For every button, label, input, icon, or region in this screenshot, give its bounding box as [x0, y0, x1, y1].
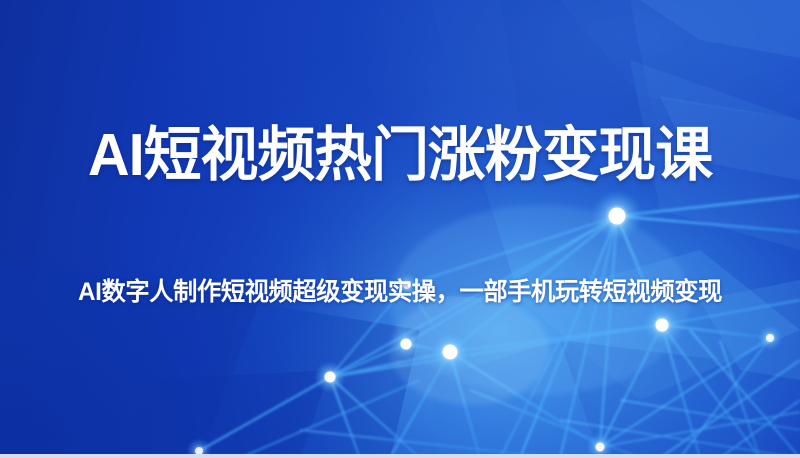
course-promo-banner: AI短视频热门涨粉变现课 AI数字人制作短视频超级变现实操，一部手机玩转短视频变…: [0, 0, 800, 458]
banner-title: AI短视频热门涨粉变现课: [8, 122, 792, 188]
bottom-edge-strip: [0, 454, 800, 458]
text-layer: AI短视频热门涨粉变现课 AI数字人制作短视频超级变现实操，一部手机玩转短视频变…: [0, 0, 800, 458]
banner-subtitle: AI数字人制作短视频超级变现实操，一部手机玩转短视频变现: [12, 276, 788, 308]
